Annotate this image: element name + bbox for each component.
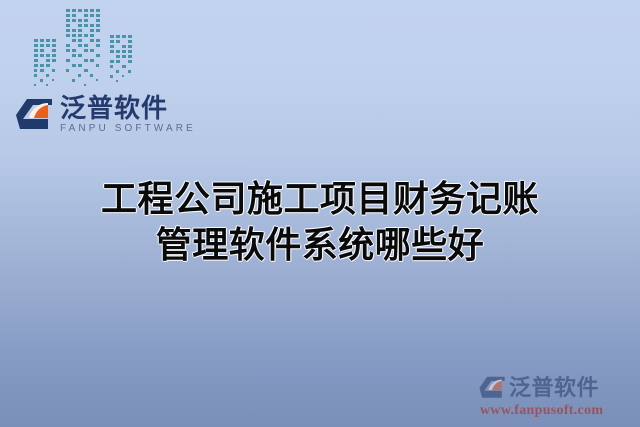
watermark-logo-row: 泛普软件 [478,374,628,402]
headline-line-1: 工程公司施工项目财务记账 [0,176,640,222]
watermark-name-cn: 泛普软件 [509,376,599,400]
headline: 工程公司施工项目财务记账 管理软件系统哪些好 [0,176,640,268]
watermark: 泛普软件 www.fanpusoft.com [478,374,628,419]
watermark-url: www.fanpusoft.com [480,403,628,419]
brand-name-cn: 泛普软件 [60,94,196,122]
brand-name-en: FANPU SOFTWARE [60,123,196,135]
pixel-skyline-icon [33,6,143,90]
fanpu-swoosh-icon [14,95,54,135]
brand-logo: 泛普软件 FANPU SOFTWARE [14,94,196,135]
brand-wordmark: 泛普软件 FANPU SOFTWARE [60,94,196,135]
headline-line-2: 管理软件系统哪些好 [0,222,640,268]
promo-banner: 泛普软件 FANPU SOFTWARE 工程公司施工项目财务记账 管理软件系统哪… [0,0,640,427]
fanpu-swoosh-icon [478,374,506,402]
